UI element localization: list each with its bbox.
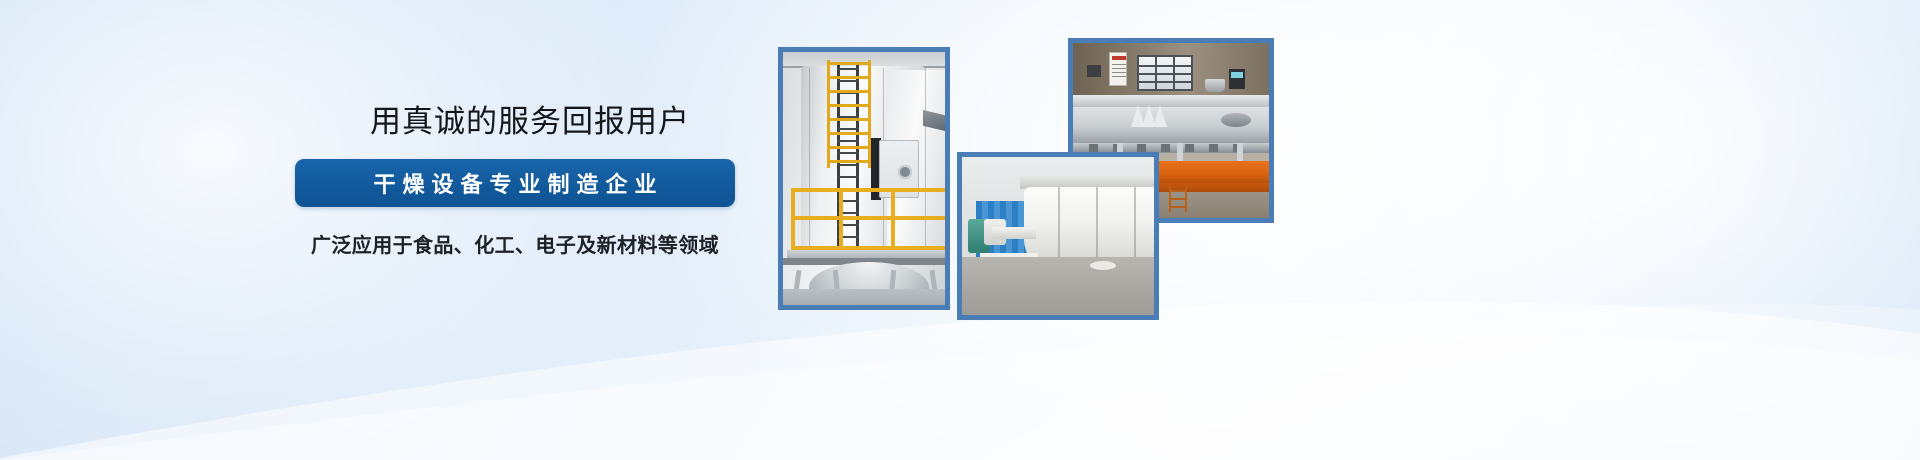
platform-railing (791, 188, 945, 252)
promo-banner: 用真诚的服务回报用户 干燥设备专业制造企业 广泛应用于食品、化工、电子及新材料等… (0, 0, 1920, 460)
spray-tower-image (783, 52, 945, 305)
wall-notice-sign (1109, 52, 1127, 86)
photo-card-ribbon-mixer[interactable] (957, 152, 1159, 320)
banner-subline: 广泛应用于食品、化工、电子及新材料等领域 (295, 229, 735, 258)
factory-window-icon (1137, 55, 1193, 91)
ribbon-mixer-image (962, 157, 1154, 315)
photo-card-spray-tower[interactable] (778, 47, 950, 310)
banner-text-block: 用真诚的服务回报用户 干燥设备专业制造企业 广泛应用于食品、化工、电子及新材料等… (295, 104, 765, 258)
ladder-safety-cage (827, 60, 871, 168)
banner-headline: 用真诚的服务回报用户 (295, 104, 765, 140)
background-glow-right (1280, 0, 1920, 460)
banner-slogan-text: 干燥设备专业制造企业 (366, 167, 663, 199)
banner-slogan-pill: 干燥设备专业制造企业 (295, 159, 735, 207)
